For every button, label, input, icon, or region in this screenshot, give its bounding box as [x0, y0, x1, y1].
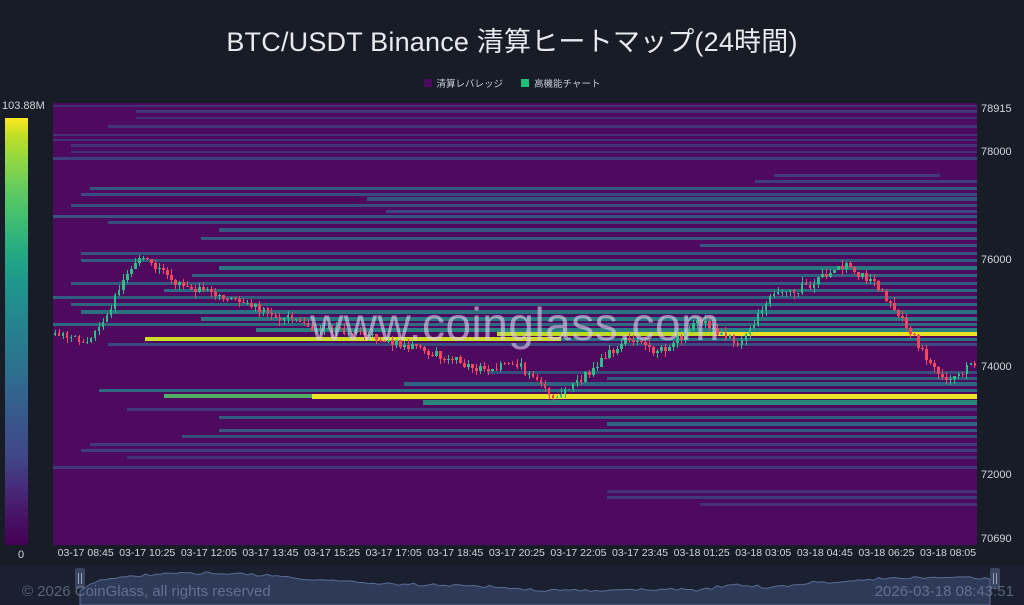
liquidation-band: [404, 382, 977, 386]
candle-body: [580, 380, 583, 381]
candle-body: [825, 274, 828, 277]
price-axis-tick: 76000: [981, 254, 1012, 266]
candle-body: [845, 263, 848, 269]
candle-body: [700, 320, 703, 323]
candle-body: [672, 343, 675, 346]
liquidation-band: [607, 490, 977, 493]
candle-body: [604, 358, 607, 359]
liquidation-band: [219, 266, 977, 270]
liquidation-band: [755, 180, 977, 183]
candle-body: [54, 333, 57, 335]
candle-body: [496, 369, 499, 370]
candle-body: [303, 322, 306, 324]
candle-body: [564, 389, 567, 393]
liquidation-band: [81, 193, 977, 196]
candle-body: [508, 363, 511, 364]
candle-body: [130, 269, 133, 274]
liquidation-band: [607, 377, 977, 380]
colorbar: 103.88M 0: [5, 118, 28, 545]
time-axis-tick: 03-18 06:25: [858, 547, 914, 559]
legend-item-chart[interactable]: 高機能チャート: [521, 76, 600, 90]
heatmap-plot-area[interactable]: www.coinglass.com: [53, 103, 977, 545]
candle-body: [387, 340, 390, 342]
candle-body: [901, 316, 904, 318]
candle-body: [467, 364, 470, 367]
candle-body: [765, 304, 768, 310]
candle-body: [773, 294, 776, 296]
candle-body: [295, 319, 298, 320]
candle-body: [733, 335, 736, 343]
candle-body: [588, 372, 591, 376]
candle-body: [636, 341, 639, 342]
candle-body: [753, 325, 756, 328]
candle-body: [383, 341, 386, 342]
candle-body: [789, 290, 792, 292]
candle-body: [375, 334, 378, 339]
candle-body: [214, 292, 217, 297]
candle-body: [371, 334, 374, 335]
candle-body: [267, 308, 270, 312]
candle-body: [391, 340, 394, 346]
candle-body: [246, 303, 249, 304]
candle-body: [809, 285, 812, 288]
candle-body: [704, 321, 707, 323]
liquidation-band: [90, 187, 977, 190]
liquidation-band: [127, 408, 977, 411]
liquidation-heatmap-chart: BTC/USDT Binance 清算ヒートマップ(24時間) 清算レバレッジ …: [0, 0, 1024, 605]
liquidation-band: [700, 503, 977, 506]
candle-body: [600, 358, 603, 367]
candle-wick: [782, 289, 783, 296]
liquidation-band: [53, 139, 977, 141]
liquidation-band: [367, 197, 977, 201]
candle-body: [881, 290, 884, 291]
candle-wick: [657, 349, 658, 358]
candle-body: [78, 336, 81, 342]
legend-label-chart: 高機能チャート: [534, 76, 600, 90]
candle-body: [451, 359, 454, 360]
candle-body: [234, 298, 237, 300]
candle-body: [628, 338, 631, 340]
liquidation-band: [774, 174, 940, 177]
time-axis-tick: 03-18 01:25: [674, 547, 730, 559]
liquidation-band: [90, 443, 977, 446]
candle-body: [712, 328, 715, 329]
candle-body: [953, 376, 956, 378]
candle-body: [399, 340, 402, 346]
candle-body: [885, 291, 888, 302]
candle-body: [178, 282, 181, 285]
candle-body: [154, 263, 157, 269]
candle-body: [797, 293, 800, 294]
candle-body: [869, 279, 872, 281]
candle-body: [439, 351, 442, 359]
candle-body: [335, 327, 338, 333]
liquidation-band: [136, 117, 977, 119]
candle-body: [463, 363, 466, 367]
candle-body: [640, 341, 643, 342]
candle-body: [737, 343, 740, 345]
candle-body: [351, 333, 354, 334]
liquidation-band: [53, 105, 977, 107]
liquidation-band: [487, 371, 977, 374]
price-axis-tick: 74000: [981, 361, 1012, 373]
liquidation-band: [201, 237, 977, 240]
liquidation-band: [71, 204, 977, 207]
candle-wick: [950, 375, 951, 386]
candle-body: [837, 266, 840, 270]
candle-body: [929, 360, 932, 363]
liquidation-band: [108, 343, 977, 346]
candle-body: [307, 323, 310, 326]
candle-body: [226, 299, 229, 300]
candle-body: [644, 342, 647, 345]
candle-body: [853, 267, 856, 272]
candle-body: [166, 270, 169, 275]
candle-body: [367, 335, 370, 336]
candle-body: [299, 319, 302, 321]
liquidation-band: [53, 157, 977, 160]
liquidation-band: [164, 289, 977, 292]
time-axis-tick: 03-18 04:45: [797, 547, 853, 559]
square-swatch-icon: [424, 79, 432, 87]
candle-body: [170, 275, 173, 280]
candle-body: [624, 338, 627, 344]
candle-body: [572, 383, 575, 389]
candle-body: [254, 304, 257, 307]
candle-body: [801, 283, 804, 292]
liquidation-band: [127, 456, 977, 459]
candle-body: [459, 357, 462, 362]
candle-body: [925, 349, 928, 359]
candle-body: [893, 303, 896, 310]
candle-body: [520, 363, 523, 367]
candle-body: [500, 363, 503, 369]
candle-body: [688, 330, 691, 331]
candle-body: [291, 315, 294, 319]
candle-body: [664, 347, 667, 351]
candle-body: [250, 303, 253, 308]
candle-body: [620, 344, 623, 349]
candle-body: [315, 330, 318, 331]
colorbar-max-label: 103.88M: [2, 100, 45, 112]
candle-body: [58, 333, 61, 336]
time-axis: 03-17 08:4503-17 10:2503-17 12:0503-17 1…: [0, 547, 1024, 565]
time-axis-tick: 03-17 23:45: [612, 547, 668, 559]
candle-body: [102, 322, 105, 328]
candle-body: [138, 258, 141, 263]
candle-body: [423, 347, 426, 351]
candle-body: [194, 289, 197, 293]
candle-body: [785, 291, 788, 292]
time-axis-tick: 03-17 08:45: [58, 547, 114, 559]
liquidation-band: [700, 244, 977, 247]
candle-body: [612, 350, 615, 352]
candle-body: [435, 351, 438, 356]
candle-body: [873, 279, 876, 281]
liquidation-band: [219, 416, 977, 419]
square-swatch-icon: [521, 79, 529, 87]
candle-body: [841, 266, 844, 269]
candle-body: [230, 298, 233, 300]
candle-body: [568, 389, 571, 390]
candle-body: [106, 315, 109, 322]
candle-body: [218, 295, 221, 296]
candle-body: [813, 284, 816, 288]
liquidation-band: [312, 394, 977, 399]
candle-body: [471, 364, 474, 368]
candle-body: [66, 333, 69, 338]
candle-body: [741, 340, 744, 345]
candle-body: [491, 369, 494, 371]
liquidation-band: [81, 310, 977, 314]
candle-body: [359, 331, 362, 332]
liquidation-band: [219, 429, 977, 432]
candle-body: [921, 348, 924, 350]
candle-body: [584, 372, 587, 382]
candle-body: [536, 377, 539, 380]
candle-body: [917, 335, 920, 347]
candle-body: [62, 333, 65, 335]
liquidation-band: [71, 303, 977, 306]
candle-body: [158, 268, 161, 269]
candle-body: [596, 367, 599, 368]
candle-body: [941, 374, 944, 376]
candle-body: [355, 331, 358, 333]
candle-body: [716, 328, 719, 334]
candle-body: [708, 321, 711, 329]
candle-body: [427, 351, 430, 355]
candle-body: [407, 345, 410, 349]
candle-body: [793, 290, 796, 293]
candle-body: [970, 363, 973, 365]
candle-body: [761, 310, 764, 313]
candle-body: [279, 318, 282, 320]
candle-body: [648, 345, 651, 348]
candle-body: [210, 289, 213, 292]
candle-body: [174, 280, 177, 285]
candle-body: [528, 374, 531, 375]
candle-body: [447, 359, 450, 360]
candle-body: [206, 289, 209, 290]
candle-body: [455, 357, 458, 360]
candle-body: [745, 334, 748, 339]
candle-body: [805, 283, 808, 284]
price-axis-tick: 78915: [981, 103, 1012, 115]
candle-body: [560, 394, 563, 397]
liquidation-band: [136, 110, 977, 113]
time-axis-tick: 03-17 20:25: [489, 547, 545, 559]
candle-body: [909, 328, 912, 334]
candle-body: [70, 337, 73, 338]
liquidation-band: [201, 317, 977, 321]
candle-body: [339, 327, 342, 328]
candle-body: [283, 318, 286, 321]
time-axis-tick: 03-17 10:25: [119, 547, 175, 559]
price-axis-tick: 72000: [981, 469, 1012, 481]
candle-body: [182, 282, 185, 287]
candle-body: [833, 270, 836, 274]
liquidation-band: [53, 215, 977, 218]
candle-body: [548, 388, 551, 395]
candle-body: [849, 263, 852, 267]
candle-wick: [368, 332, 369, 340]
candle-body: [319, 329, 322, 330]
candle-body: [258, 304, 261, 312]
liquidation-band: [423, 400, 977, 405]
candle-body: [86, 342, 89, 343]
candle-body: [94, 331, 97, 338]
candle-body: [974, 363, 977, 366]
candle-body: [652, 347, 655, 353]
candle-body: [656, 351, 659, 353]
liquidation-band: [53, 323, 977, 326]
candle-body: [275, 315, 278, 318]
candle-body: [327, 328, 330, 329]
candle-body: [660, 347, 663, 352]
candle-body: [419, 346, 422, 347]
candle-body: [82, 342, 85, 343]
candle-body: [150, 259, 153, 262]
candle-body: [126, 274, 129, 279]
liquidation-band: [71, 144, 977, 147]
candle-wick: [87, 337, 88, 344]
candle-body: [945, 377, 948, 380]
candle-body: [905, 318, 908, 328]
liquidation-band: [108, 125, 977, 128]
liquidation-band: [53, 466, 977, 469]
candle-body: [877, 281, 880, 290]
candle-body: [933, 363, 936, 367]
candle-body: [729, 335, 732, 338]
candle-body: [632, 340, 635, 342]
liquidation-band: [53, 134, 977, 136]
candle-wick: [71, 335, 72, 343]
colorbar-gradient: [5, 118, 28, 545]
candle-body: [857, 272, 860, 277]
candle-body: [122, 280, 125, 290]
candle-body: [186, 286, 189, 287]
candle-body: [592, 368, 595, 376]
candle-body: [913, 334, 916, 335]
candle-body: [415, 344, 418, 346]
candle-body: [616, 349, 619, 353]
time-axis-tick: 03-17 17:05: [366, 547, 422, 559]
candle-body: [556, 397, 559, 398]
candle-body: [331, 328, 334, 333]
candle-body: [504, 363, 507, 364]
liquidation-band: [108, 221, 977, 224]
candle-body: [202, 287, 205, 290]
candle-body: [889, 301, 892, 302]
candle-body: [74, 336, 77, 337]
candle-body: [684, 330, 687, 339]
liquidation-band: [71, 282, 977, 285]
candle-body: [576, 380, 579, 382]
candle-body: [958, 374, 961, 377]
timestamp-watermark: 2026-03-18 08:43:51: [875, 583, 1014, 600]
candle-body: [118, 290, 121, 295]
candle-body: [242, 302, 245, 303]
liquidation-band: [53, 296, 977, 299]
candle-body: [363, 332, 366, 336]
liquidation-band: [219, 228, 977, 232]
candle-body: [817, 277, 820, 284]
legend-item-liquidation[interactable]: 清算レバレッジ: [424, 76, 504, 90]
candle-body: [403, 345, 406, 347]
candle-body: [680, 336, 683, 340]
candle-body: [98, 327, 101, 331]
candle-body: [162, 268, 165, 270]
candle-body: [479, 366, 482, 371]
candle-body: [190, 287, 193, 289]
price-axis: 789157800076000740007200070690: [981, 103, 1024, 545]
candle-body: [720, 333, 723, 335]
candle-body: [146, 258, 149, 260]
time-axis-tick: 03-18 08:05: [920, 547, 976, 559]
candle-body: [552, 395, 555, 398]
candle-body: [443, 359, 446, 360]
candle-body: [692, 323, 695, 330]
candle-body: [516, 364, 519, 367]
liquidation-band: [71, 151, 977, 153]
candle-body: [287, 315, 290, 317]
candle-body: [676, 336, 679, 344]
candle-body: [544, 384, 547, 388]
candle-body: [110, 309, 113, 315]
candle-body: [323, 329, 326, 330]
candle-body: [829, 273, 832, 277]
candle-body: [347, 333, 350, 334]
liquidation-band: [81, 449, 977, 452]
candle-body: [861, 273, 864, 277]
liquidation-band: [718, 332, 977, 336]
legend-label-liquidation: 清算レバレッジ: [437, 76, 504, 90]
candle-body: [781, 292, 784, 293]
candle-body: [725, 333, 728, 339]
time-axis-tick: 03-17 18:45: [427, 547, 483, 559]
candle-body: [865, 273, 868, 281]
candle-body: [821, 274, 824, 277]
candle-body: [395, 340, 398, 345]
liquidation-band: [607, 496, 977, 499]
candle-body: [483, 366, 486, 368]
candle-body: [475, 368, 478, 371]
time-axis-tick: 03-17 12:05: [181, 547, 237, 559]
candle-body: [263, 308, 266, 311]
candle-body: [222, 295, 225, 299]
chart-legend: 清算レバレッジ 高機能チャート: [0, 76, 1024, 90]
price-axis-tick: 78000: [981, 146, 1012, 158]
candle-body: [777, 292, 780, 294]
candle-body: [524, 363, 527, 375]
candle-body: [487, 369, 490, 371]
candle-body: [757, 313, 760, 325]
candle-body: [198, 287, 201, 293]
candle-body: [512, 364, 515, 365]
candle-body: [949, 379, 952, 380]
candle-body: [311, 327, 314, 331]
time-axis-tick: 03-17 15:25: [304, 547, 360, 559]
candle-body: [608, 350, 611, 358]
candle-body: [431, 355, 434, 356]
liquidation-band: [386, 210, 977, 213]
liquidation-band: [182, 435, 977, 438]
candle-body: [379, 340, 382, 342]
page-title: BTC/USDT Binance 清算ヒートマップ(24時間): [0, 20, 1024, 59]
candle-body: [749, 328, 752, 334]
candle-body: [411, 344, 414, 349]
